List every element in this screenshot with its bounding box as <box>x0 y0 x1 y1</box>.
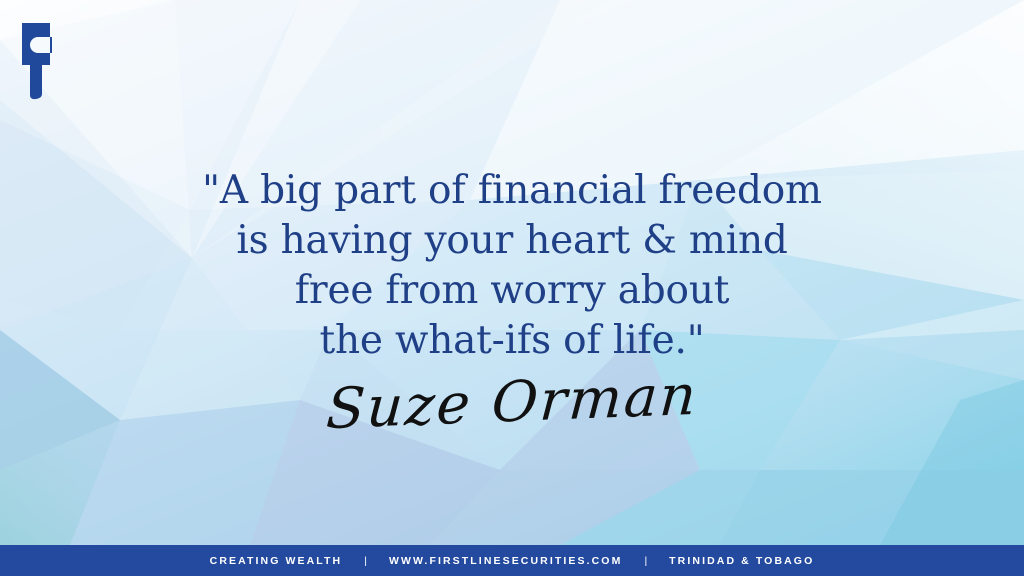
footer-bar: CREATING WEALTH | WWW.FIRSTLINESECURITIE… <box>0 545 1024 576</box>
footer-separator-1: | <box>342 555 389 567</box>
quote-card: "A big part of financial freedom is havi… <box>0 0 1024 576</box>
attribution: Suze Orman <box>0 372 1024 434</box>
author-signature: Suze Orman <box>324 365 699 441</box>
footer-location: TRINIDAD & TOBAGO <box>669 555 814 567</box>
footer-content: CREATING WEALTH | WWW.FIRSTLINESECURITIE… <box>210 555 815 567</box>
quote-line-4: the what-ifs of life." <box>0 316 1024 366</box>
footer-website[interactable]: WWW.FIRSTLINESECURITIES.COM <box>389 555 622 567</box>
quote-text-block: "A big part of financial freedom is havi… <box>0 166 1024 366</box>
quote-line-2: is having your heart & mind <box>0 216 1024 266</box>
footer-tagline: CREATING WEALTH <box>210 555 343 567</box>
firstline-f-logo-icon <box>18 20 66 102</box>
footer-separator-2: | <box>622 555 669 567</box>
quote-line-1: "A big part of financial freedom <box>0 166 1024 216</box>
quote-line-3: free from worry about <box>0 266 1024 316</box>
